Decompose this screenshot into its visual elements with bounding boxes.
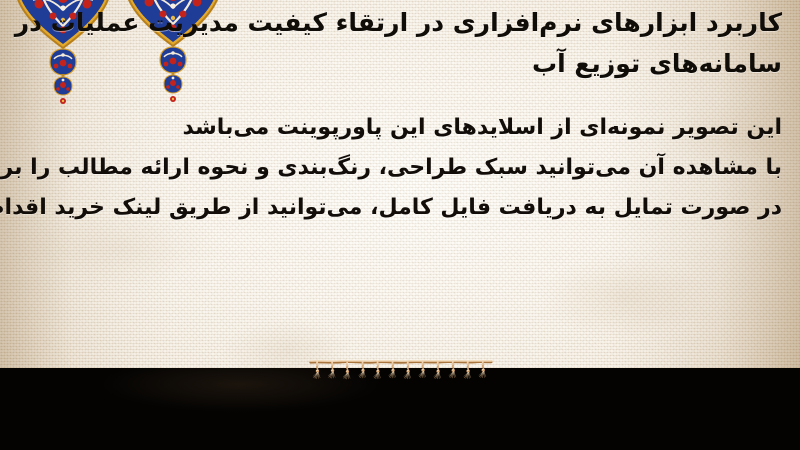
tassel	[449, 362, 456, 378]
tassel-row	[313, 361, 486, 379]
slide-title: کاربرد ابزارهای نرم‌افزاری در ارتقاء کیف…	[162, 2, 782, 84]
carpet-fringe-band	[0, 360, 800, 450]
tassel	[389, 362, 396, 378]
tassel	[343, 363, 350, 379]
tassel	[373, 362, 380, 378]
title-line-2: سامانه‌های توزیع آب	[162, 43, 782, 84]
fringe-black-background	[0, 368, 800, 450]
fringe-tassels-svg	[0, 360, 800, 380]
tassel	[419, 361, 426, 377]
tassel	[404, 362, 411, 378]
tassel	[313, 362, 320, 378]
body-line-3: در صورت تمایل به دریافت فایل کامل، می‌تو…	[18, 188, 782, 228]
tassel	[464, 362, 471, 378]
body-line-1: این تصویر نمونه‌ای از اسلایدهای این پاور…	[18, 108, 782, 148]
body-line-2: با مشاهده آن می‌توانید سبک طراحی، رنگ‌بن…	[18, 148, 782, 188]
tassel	[434, 362, 441, 378]
presentation-slide: کاربرد ابزارهای نرم‌افزاری در ارتقاء کیف…	[0, 0, 800, 450]
tassel	[479, 361, 486, 377]
tassel	[328, 362, 335, 378]
slide-body: این تصویر نمونه‌ای از اسلایدهای این پاور…	[18, 108, 782, 228]
title-line-1: کاربرد ابزارهای نرم‌افزاری در ارتقاء کیف…	[162, 2, 782, 43]
tassel	[359, 362, 366, 378]
